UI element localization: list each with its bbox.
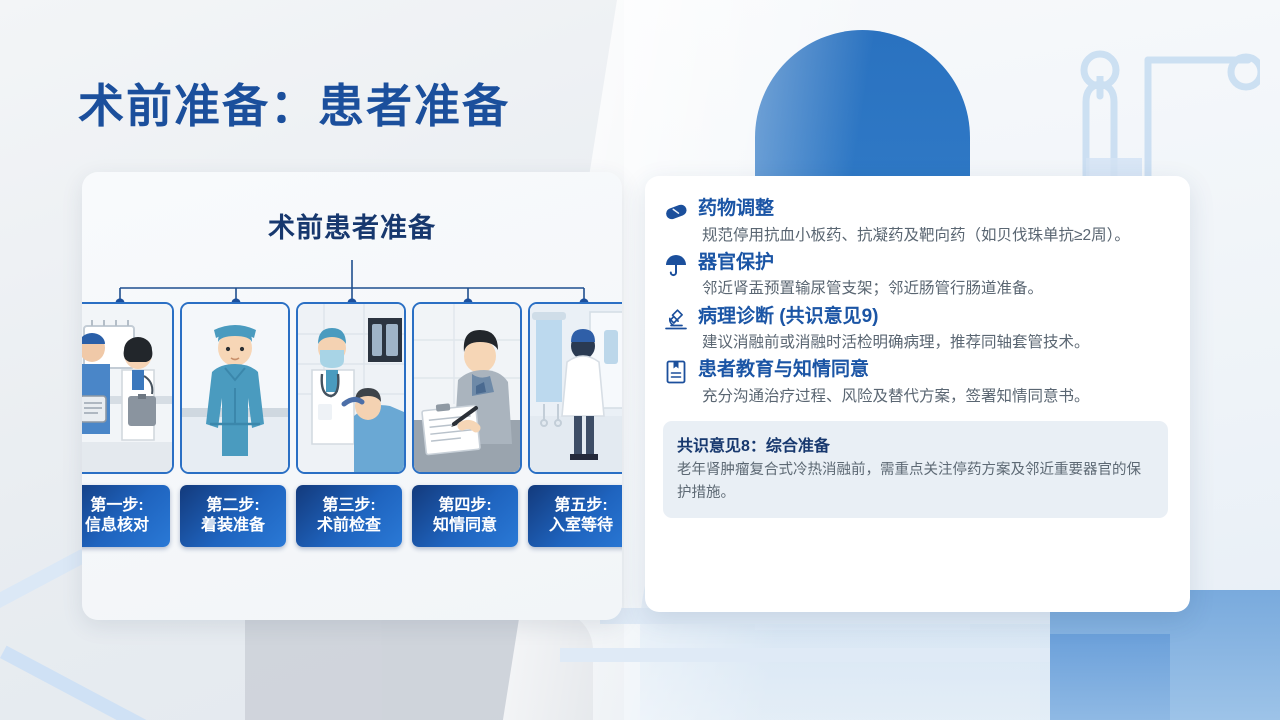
step-label-bottom: 术前检查 [317,516,381,536]
detail-heading: 患者教育与知情同意 [698,357,1168,383]
step-label: 第三步: 术前检查 [296,485,402,547]
step-label-bottom: 着装准备 [201,516,265,536]
umbrella-icon [663,252,689,278]
step-label-top: 第五步: [554,496,607,516]
step-item[interactable]: 第一步: 信息核对 [82,302,170,547]
step-item[interactable]: 第二步: 着装准备 [180,302,286,547]
detail-text: 规范停用抗血小板药、抗凝药及靶向药（如贝伐珠单抗≥2周）。 [698,223,1168,248]
step-illustration-information-check [82,302,174,474]
step-item[interactable]: 第五步: 入室等待 [528,302,622,547]
detail-heading: 器官保护 [698,250,1168,276]
detail-item-pathology: 病理诊断 (共识意见9) 建议消融前或消融时活检明确病理，推荐同轴套管技术。 [663,304,1168,356]
preoperative-steps-card: 术前患者准备 [82,172,622,620]
preparation-details-card: 药物调整 规范停用抗血小板药、抗凝药及靶向药（如贝伐珠单抗≥2周）。 器官保护 … [645,176,1190,612]
steps-card-title: 术前患者准备 [82,206,622,245]
document-bookmark-icon [663,359,689,385]
microscope-icon [663,306,689,332]
consensus-heading: 共识意见8：综合准备 [677,432,1154,456]
step-label-top: 第二步: [206,496,259,516]
step-label-top: 第三步: [322,496,375,516]
step-label-bottom: 知情同意 [433,516,497,536]
detail-heading: 病理诊断 (共识意见9) [698,304,1168,330]
detail-item-organ-protection: 器官保护 邻近肾盂预置输尿管支架；邻近肠管行肠道准备。 [663,250,1168,302]
steps-row: 第一步: 信息核对 [82,302,622,547]
step-illustration-informed-consent [412,302,522,474]
detail-text: 建议消融前或消融时活检明确病理，推荐同轴套管技术。 [698,330,1168,355]
step-illustration-entering-room [528,302,622,474]
step-label: 第二步: 着装准备 [180,485,286,547]
tree-connector-diagram [82,260,622,308]
step-item[interactable]: 第四步: 知情同意 [412,302,518,547]
detail-text: 邻近肾盂预置输尿管支架；邻近肠管行肠道准备。 [698,276,1168,301]
step-label-bottom: 信息核对 [85,516,149,536]
background-stripe [560,648,1120,662]
step-item[interactable]: 第三步: 术前检查 [296,302,402,547]
page-title: 术前准备：患者准备 [78,70,510,136]
background-blue-block [1050,634,1170,720]
step-label: 第四步: 知情同意 [412,485,518,547]
step-label-top: 第四步: [438,496,491,516]
consensus-callout: 共识意见8：综合准备 老年肾肿瘤复合式冷热消融前，需重点关注停药方案及邻近重要器… [663,421,1168,518]
consensus-text: 老年肾肿瘤复合式冷热消融前，需重点关注停药方案及邻近重要器官的保护措施。 [677,459,1154,505]
step-illustration-gown-preparation [180,302,290,474]
detail-item-medication: 药物调整 规范停用抗血小板药、抗凝药及靶向药（如贝伐珠单抗≥2周）。 [663,196,1168,248]
detail-heading: 药物调整 [698,196,1168,222]
pill-icon [663,198,689,224]
step-label: 第五步: 入室等待 [528,485,622,547]
step-label-bottom: 入室等待 [549,516,613,536]
detail-text: 充分沟通治疗过程、风险及替代方案，签署知情同意书。 [698,384,1168,409]
step-label-top: 第一步: [90,496,143,516]
step-label: 第一步: 信息核对 [82,485,170,547]
detail-item-patient-education: 患者教育与知情同意 充分沟通治疗过程、风险及替代方案，签署知情同意书。 [663,357,1168,409]
step-illustration-preoperative-examination [296,302,406,474]
